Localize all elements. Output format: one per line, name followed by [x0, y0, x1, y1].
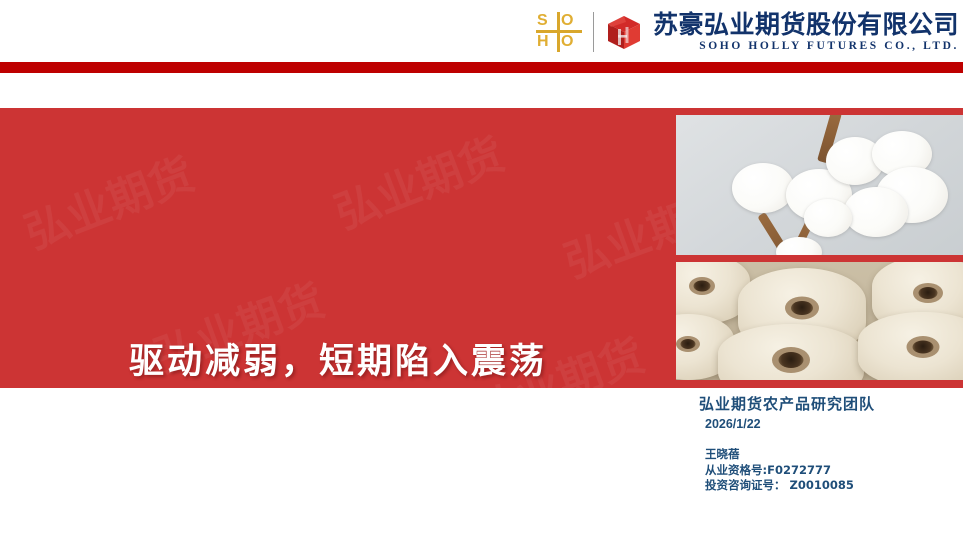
practice-license: 从业资格号:F0272777: [705, 463, 963, 479]
research-team-label: 弘业期货农产品研究团队: [699, 394, 963, 414]
yarn-spools-image: [676, 262, 963, 380]
soho-letter-o1: O: [561, 12, 573, 30]
consulting-license: 投资咨询证号： Z0010085: [705, 478, 963, 494]
footer-credits: 弘业期货农产品研究团队 2026/1/22 王晓蓓 从业资格号:F0272777…: [699, 394, 963, 494]
presentation-slide: S O H O 苏豪弘业期货股份有限公司 SOHO H: [0, 0, 963, 538]
red-cube-icon: [604, 12, 644, 52]
report-date: 2026/1/22: [705, 415, 963, 433]
soho-letter-h: H: [537, 33, 549, 51]
brand-divider: [593, 12, 594, 52]
author-name: 王晓蓓: [705, 447, 963, 463]
slide-title: 驱动减弱，短期陷入震荡: [0, 333, 676, 384]
cotton-boll-image: [676, 115, 963, 255]
company-name-block: 苏豪弘业期货股份有限公司 SOHO HOLLY FUTURES CO., LTD…: [653, 11, 963, 53]
soho-letter-o2: O: [561, 33, 573, 51]
company-name-en: SOHO HOLLY FUTURES CO., LTD.: [653, 39, 959, 53]
slide-header: S O H O 苏豪弘业期货股份有限公司 SOHO H: [0, 0, 963, 62]
soho-letter-s: S: [537, 12, 548, 30]
header-red-rule: [0, 62, 963, 73]
company-name-cn: 苏豪弘业期货股份有限公司: [653, 11, 959, 39]
soho-grid-logo-icon: S O H O: [536, 12, 582, 52]
company-brand: S O H O 苏豪弘业期货股份有限公司 SOHO H: [536, 6, 963, 58]
watermark: 弘业期货: [324, 119, 511, 242]
watermark: 弘业期货: [14, 139, 201, 262]
